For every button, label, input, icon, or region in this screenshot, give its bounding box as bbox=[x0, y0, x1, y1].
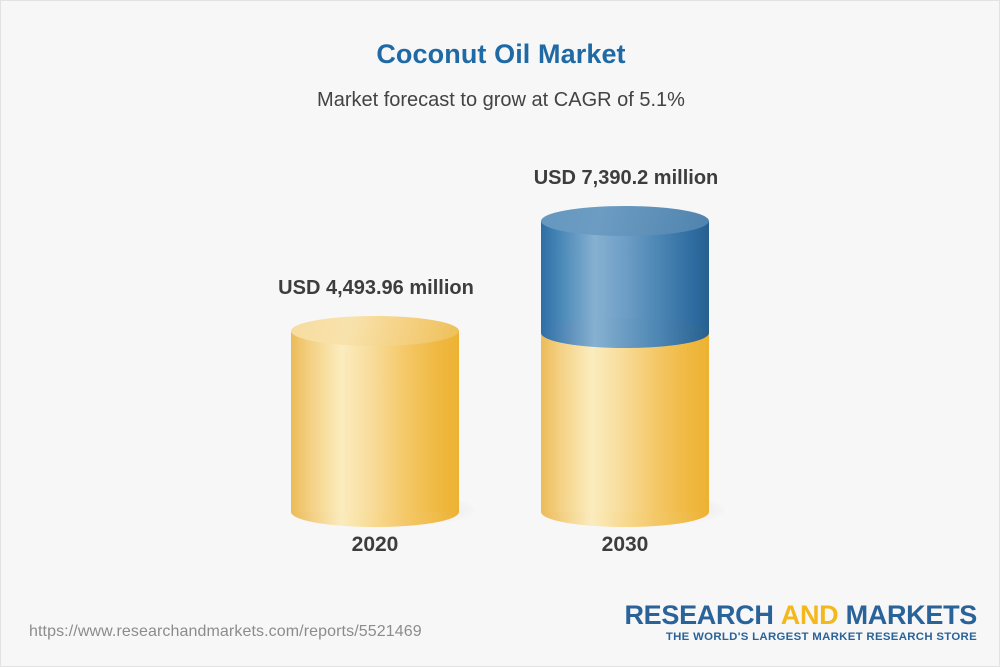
bar-2030-top bbox=[541, 206, 709, 236]
bar-2030-body-growth bbox=[541, 221, 709, 333]
category-label-2020: 2020 bbox=[290, 533, 460, 557]
bar-2020-top bbox=[291, 316, 459, 346]
bar-2030-value-label: USD 7,390.2 million bbox=[441, 167, 811, 190]
logo-wordmark: RESEARCH AND MARKETS bbox=[624, 601, 977, 629]
report-url[interactable]: https://www.researchandmarkets.com/repor… bbox=[29, 623, 422, 641]
logo-tagline: THE WORLD'S LARGEST MARKET RESEARCH STOR… bbox=[624, 631, 977, 643]
chart-title: Coconut Oil Market bbox=[1, 39, 1000, 70]
bar-2030-growth-base bbox=[541, 318, 709, 348]
category-label-2030: 2030 bbox=[540, 533, 710, 557]
bar-2020-value-label: USD 4,493.96 million bbox=[191, 277, 561, 300]
logo-word-research: RESEARCH bbox=[624, 600, 773, 630]
chart-subtitle: Market forecast to grow at CAGR of 5.1% bbox=[1, 89, 1000, 112]
logo-word-markets: MARKETS bbox=[846, 600, 977, 630]
bar-2030-body-base bbox=[541, 331, 709, 512]
logo-word-and: AND bbox=[781, 600, 839, 630]
chart-canvas: Coconut Oil Market Market forecast to gr… bbox=[0, 0, 1000, 667]
bar-2020-body bbox=[291, 331, 459, 512]
research-and-markets-logo[interactable]: RESEARCH AND MARKETS THE WORLD'S LARGEST… bbox=[624, 601, 977, 643]
